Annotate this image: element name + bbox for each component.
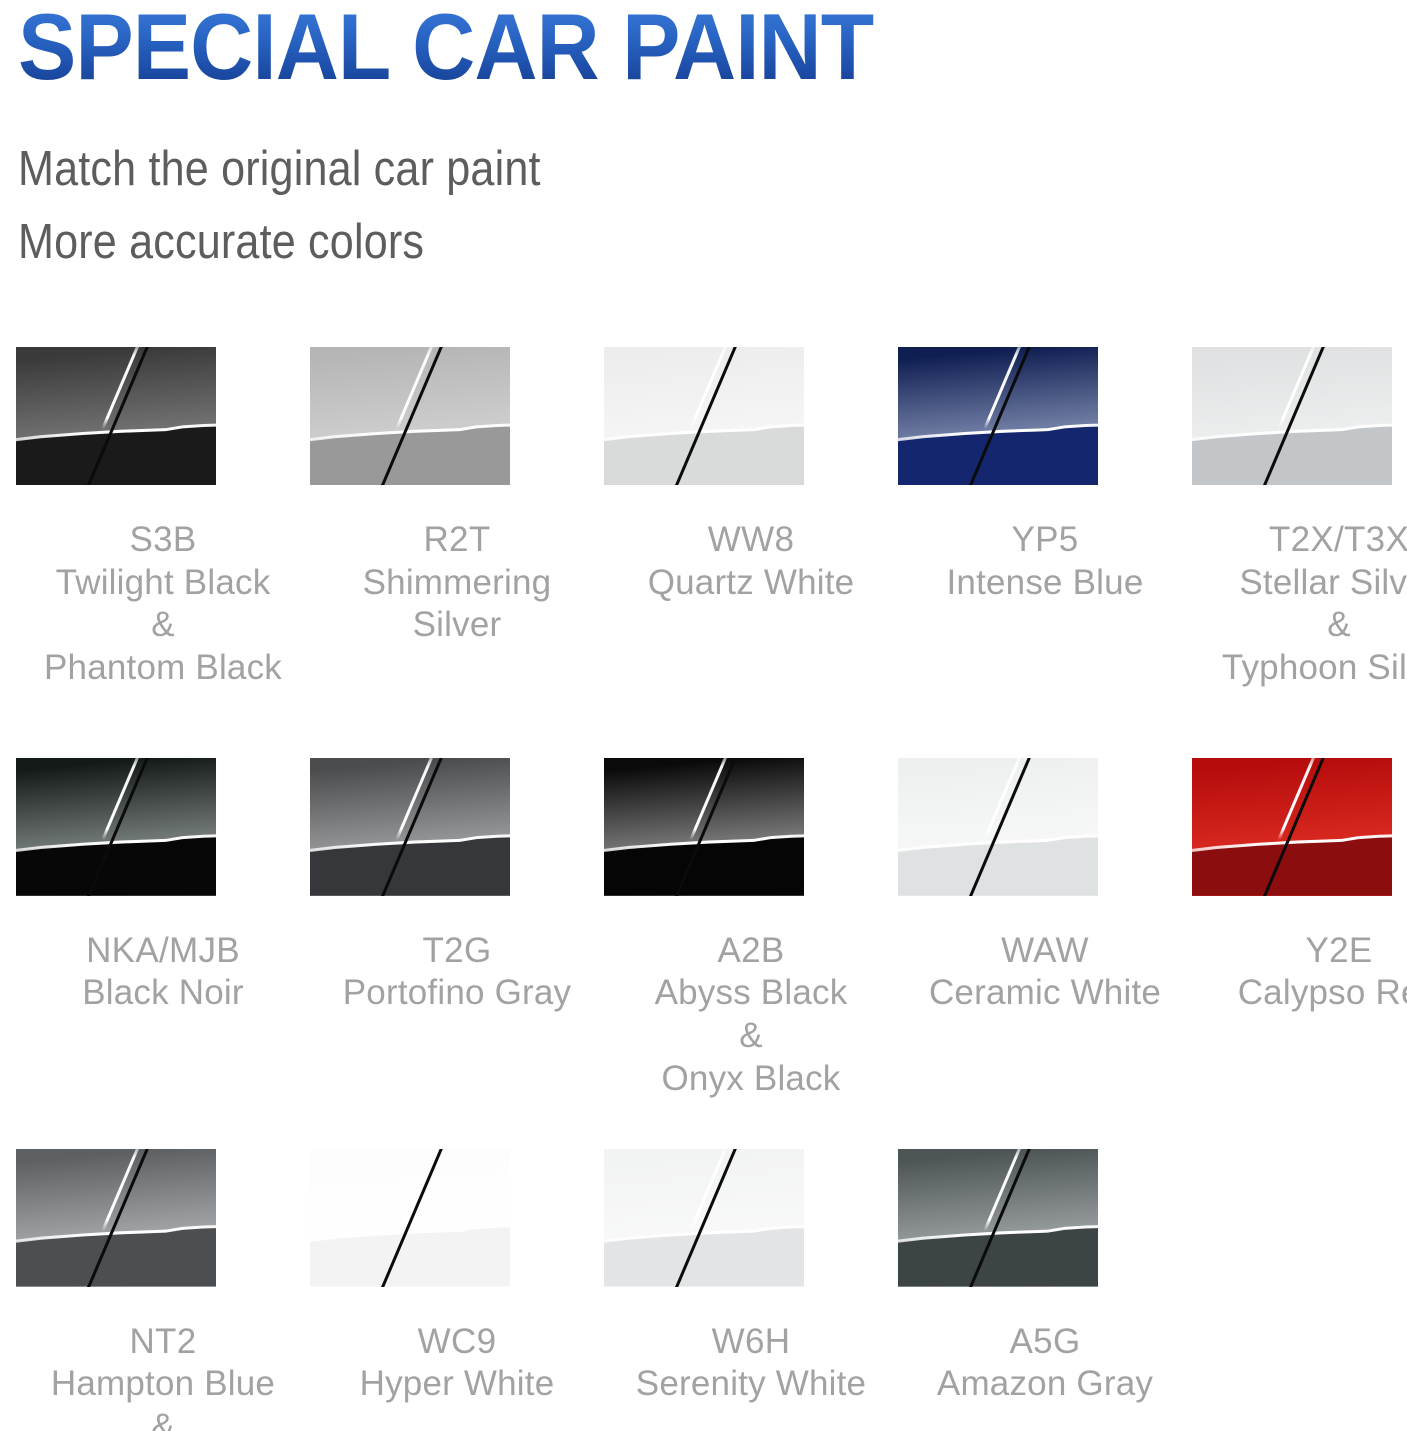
paint-code: WC9 <box>310 1321 604 1364</box>
subtitle-line-1: Match the original car paint <box>18 133 1232 206</box>
paint-swatch-image <box>604 1149 804 1287</box>
paint-swatch-cell[interactable]: S3BTwilight Black & Phantom Black <box>16 347 310 690</box>
paint-code: NT2 <box>16 1321 310 1364</box>
paint-code: S3B <box>16 519 310 562</box>
paint-code: WW8 <box>604 519 898 562</box>
paint-name: Ceramic White <box>898 972 1192 1015</box>
paint-code: W6H <box>604 1321 898 1364</box>
paint-swatch-image <box>604 758 804 896</box>
paint-caption: WAWCeramic White <box>898 930 1192 1015</box>
paint-color-grid: S3BTwilight Black & Phantom BlackR2TShim… <box>16 347 1391 1431</box>
paint-caption: NT2Hampton Blue & Hampton Gray <box>16 1321 310 1431</box>
header: SPECIAL CAR PAINT Match the original car… <box>18 0 1398 278</box>
paint-code: YP5 <box>898 519 1192 562</box>
paint-swatch-image <box>16 347 216 485</box>
paint-swatch-cell[interactable]: WAWCeramic White <box>898 758 1192 1015</box>
paint-swatch-image <box>310 1149 510 1287</box>
paint-row: NT2Hampton Blue & Hampton GrayWC9Hyper W… <box>16 1149 1391 1431</box>
paint-code: A5G <box>898 1321 1192 1364</box>
paint-code: Y2E <box>1192 930 1407 973</box>
paint-code: NKA/MJB <box>16 930 310 973</box>
paint-swatch-image <box>898 347 1098 485</box>
paint-swatch-cell[interactable]: YP5Intense Blue <box>898 347 1192 604</box>
paint-swatch-cell[interactable]: T2GPortofino Gray <box>310 758 604 1015</box>
paint-swatch-cell[interactable]: Y2ECalypso Red <box>1192 758 1407 1015</box>
page-title: SPECIAL CAR PAINT <box>18 0 1301 91</box>
paint-swatch-image <box>604 347 804 485</box>
paint-swatch-image <box>1192 347 1392 485</box>
paint-name: Abyss Black & Onyx Black <box>604 972 898 1100</box>
paint-caption: S3BTwilight Black & Phantom Black <box>16 519 310 690</box>
paint-swatch-cell[interactable]: W6HSerenity White <box>604 1149 898 1406</box>
paint-swatch-image <box>16 1149 216 1287</box>
special-car-paint-page: SPECIAL CAR PAINT Match the original car… <box>0 0 1407 1431</box>
paint-name: Intense Blue <box>898 562 1192 605</box>
paint-swatch-image <box>310 347 510 485</box>
paint-name: Shimmering Silver <box>310 562 604 647</box>
paint-swatch-cell[interactable]: NKA/MJBBlack Noir <box>16 758 310 1015</box>
paint-caption: T2GPortofino Gray <box>310 930 604 1015</box>
paint-caption: Y2ECalypso Red <box>1192 930 1407 1015</box>
paint-row: NKA/MJBBlack NoirT2GPortofino GrayA2BAby… <box>16 758 1391 1101</box>
paint-name: Twilight Black & Phantom Black <box>16 562 310 690</box>
paint-name: Stellar Silver & Typhoon Silver <box>1192 562 1407 690</box>
paint-caption: YP5Intense Blue <box>898 519 1192 604</box>
paint-code: WAW <box>898 930 1192 973</box>
paint-swatch-image <box>898 1149 1098 1287</box>
paint-name: Hampton Blue & Hampton Gray <box>16 1363 310 1431</box>
paint-caption: W6HSerenity White <box>604 1321 898 1406</box>
paint-swatch-cell[interactable]: R2TShimmering Silver <box>310 347 604 647</box>
subtitle-block: Match the original car paint More accura… <box>18 133 1398 278</box>
paint-name: Quartz White <box>604 562 898 605</box>
paint-swatch-cell[interactable]: A5GAmazon Gray <box>898 1149 1192 1406</box>
paint-caption: A5GAmazon Gray <box>898 1321 1192 1406</box>
paint-code: T2X/T3X <box>1192 519 1407 562</box>
paint-caption: NKA/MJBBlack Noir <box>16 930 310 1015</box>
paint-name: Amazon Gray <box>898 1363 1192 1406</box>
paint-swatch-image <box>16 758 216 896</box>
paint-code: T2G <box>310 930 604 973</box>
paint-swatch-cell[interactable]: WW8Quartz White <box>604 347 898 604</box>
paint-swatch-image <box>1192 758 1392 896</box>
paint-swatch-cell[interactable]: T2X/T3XStellar Silver & Typhoon Silver <box>1192 347 1407 690</box>
paint-swatch-cell[interactable]: NT2Hampton Blue & Hampton Gray <box>16 1149 310 1431</box>
paint-swatch-cell[interactable]: A2BAbyss Black & Onyx Black <box>604 758 898 1101</box>
paint-caption: R2TShimmering Silver <box>310 519 604 647</box>
paint-name: Black Noir <box>16 972 310 1015</box>
paint-caption: WC9Hyper White <box>310 1321 604 1406</box>
paint-name: Portofino Gray <box>310 972 604 1015</box>
paint-code: A2B <box>604 930 898 973</box>
subtitle-line-2: More accurate colors <box>18 206 1232 279</box>
paint-row: S3BTwilight Black & Phantom BlackR2TShim… <box>16 347 1391 690</box>
paint-swatch-cell[interactable]: WC9Hyper White <box>310 1149 604 1406</box>
paint-code: R2T <box>310 519 604 562</box>
paint-swatch-image <box>310 758 510 896</box>
paint-swatch-image <box>898 758 1098 896</box>
paint-name: Hyper White <box>310 1363 604 1406</box>
paint-name: Calypso Red <box>1192 972 1407 1015</box>
paint-caption: WW8Quartz White <box>604 519 898 604</box>
paint-caption: T2X/T3XStellar Silver & Typhoon Silver <box>1192 519 1407 690</box>
paint-caption: A2BAbyss Black & Onyx Black <box>604 930 898 1101</box>
paint-name: Serenity White <box>604 1363 898 1406</box>
